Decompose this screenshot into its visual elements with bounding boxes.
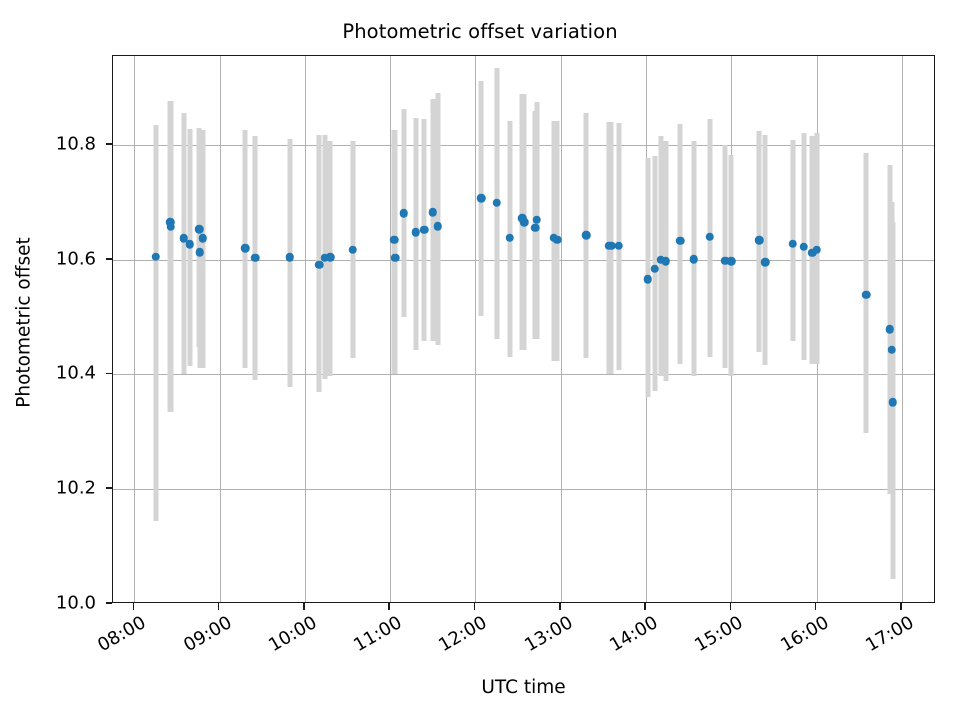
x-tick-mark-7 [730,603,732,610]
x-tick-label-2: 10:00 [253,612,321,663]
x-tick-mark-6 [644,603,646,610]
y-axis-label: Photometric offset [14,93,35,553]
x-tick-label-8: 16:00 [764,612,832,663]
x-tick-mark-4 [474,603,476,610]
x-axis-label: UTC time [112,677,935,698]
x-tick-mark-0 [133,603,135,610]
chart-figure: Photometric offset variation 10.010.210.… [0,0,960,720]
x-tick-label-5: 13:00 [509,612,577,663]
x-tick-label-1: 09:00 [167,612,235,663]
x-tick-label-6: 14:00 [594,612,662,663]
x-tick-mark-3 [388,603,390,610]
x-tick-label-0: 08:00 [82,612,150,663]
x-axis-ticks: 08:0009:0010:0011:0012:0013:0014:0015:00… [0,0,960,720]
x-tick-mark-9 [900,603,902,610]
x-tick-label-7: 15:00 [679,612,747,663]
x-tick-mark-8 [815,603,817,610]
x-tick-label-9: 17:00 [850,612,918,663]
x-tick-label-3: 11:00 [338,612,406,663]
x-tick-mark-5 [559,603,561,610]
x-tick-mark-1 [218,603,220,610]
x-tick-mark-2 [303,603,305,610]
x-tick-label-4: 12:00 [423,612,491,663]
